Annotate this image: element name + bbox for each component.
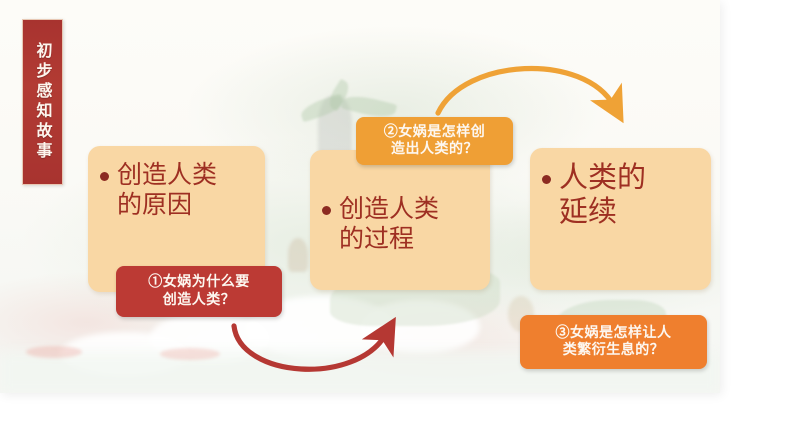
- background-leaf-left: [299, 94, 346, 123]
- topic-label-cause: 创造人类 的原因: [117, 160, 217, 219]
- topic-box-process[interactable]: 创造人类 的过程: [310, 150, 490, 290]
- callout-question-3[interactable]: ③女娲是怎样让人 类繁衍生息的？: [520, 315, 707, 369]
- background-cloud-right: [360, 300, 480, 354]
- screenshot-stage: 初步感知故事 创造人类 的原因 创造人类 的过程 人类的 延续: [0, 0, 794, 447]
- bullet-dot-icon: [100, 172, 109, 181]
- section-title-banner: 初步感知故事: [22, 19, 63, 185]
- background-figure-small: [288, 238, 308, 272]
- bullet-dot-icon: [542, 175, 551, 184]
- arrow-cause-to-process-icon: [196, 312, 416, 392]
- topic-box-continuity[interactable]: 人类的 延续: [530, 148, 711, 290]
- section-title-text: 初步感知故事: [35, 42, 51, 162]
- background-cloud-far-left: [60, 332, 190, 376]
- background-cloud-left: [150, 312, 270, 364]
- background-blossom-left: [26, 346, 82, 358]
- topic-label-continuity: 人类的 延续: [559, 160, 646, 228]
- presentation-slide: 初步感知故事 创造人类 的原因 创造人类 的过程 人类的 延续: [0, 0, 720, 393]
- callout-question-1[interactable]: ①女娲为什么要 创造人类？: [116, 266, 282, 317]
- background-leaf-top: [325, 79, 353, 112]
- callout-question-2[interactable]: ②女娲是怎样创 造出人类的？: [356, 117, 513, 165]
- background-blossom-right: [160, 348, 220, 360]
- topic-label-process: 创造人类 的过程: [339, 194, 439, 253]
- bullet-dot-icon: [322, 206, 331, 215]
